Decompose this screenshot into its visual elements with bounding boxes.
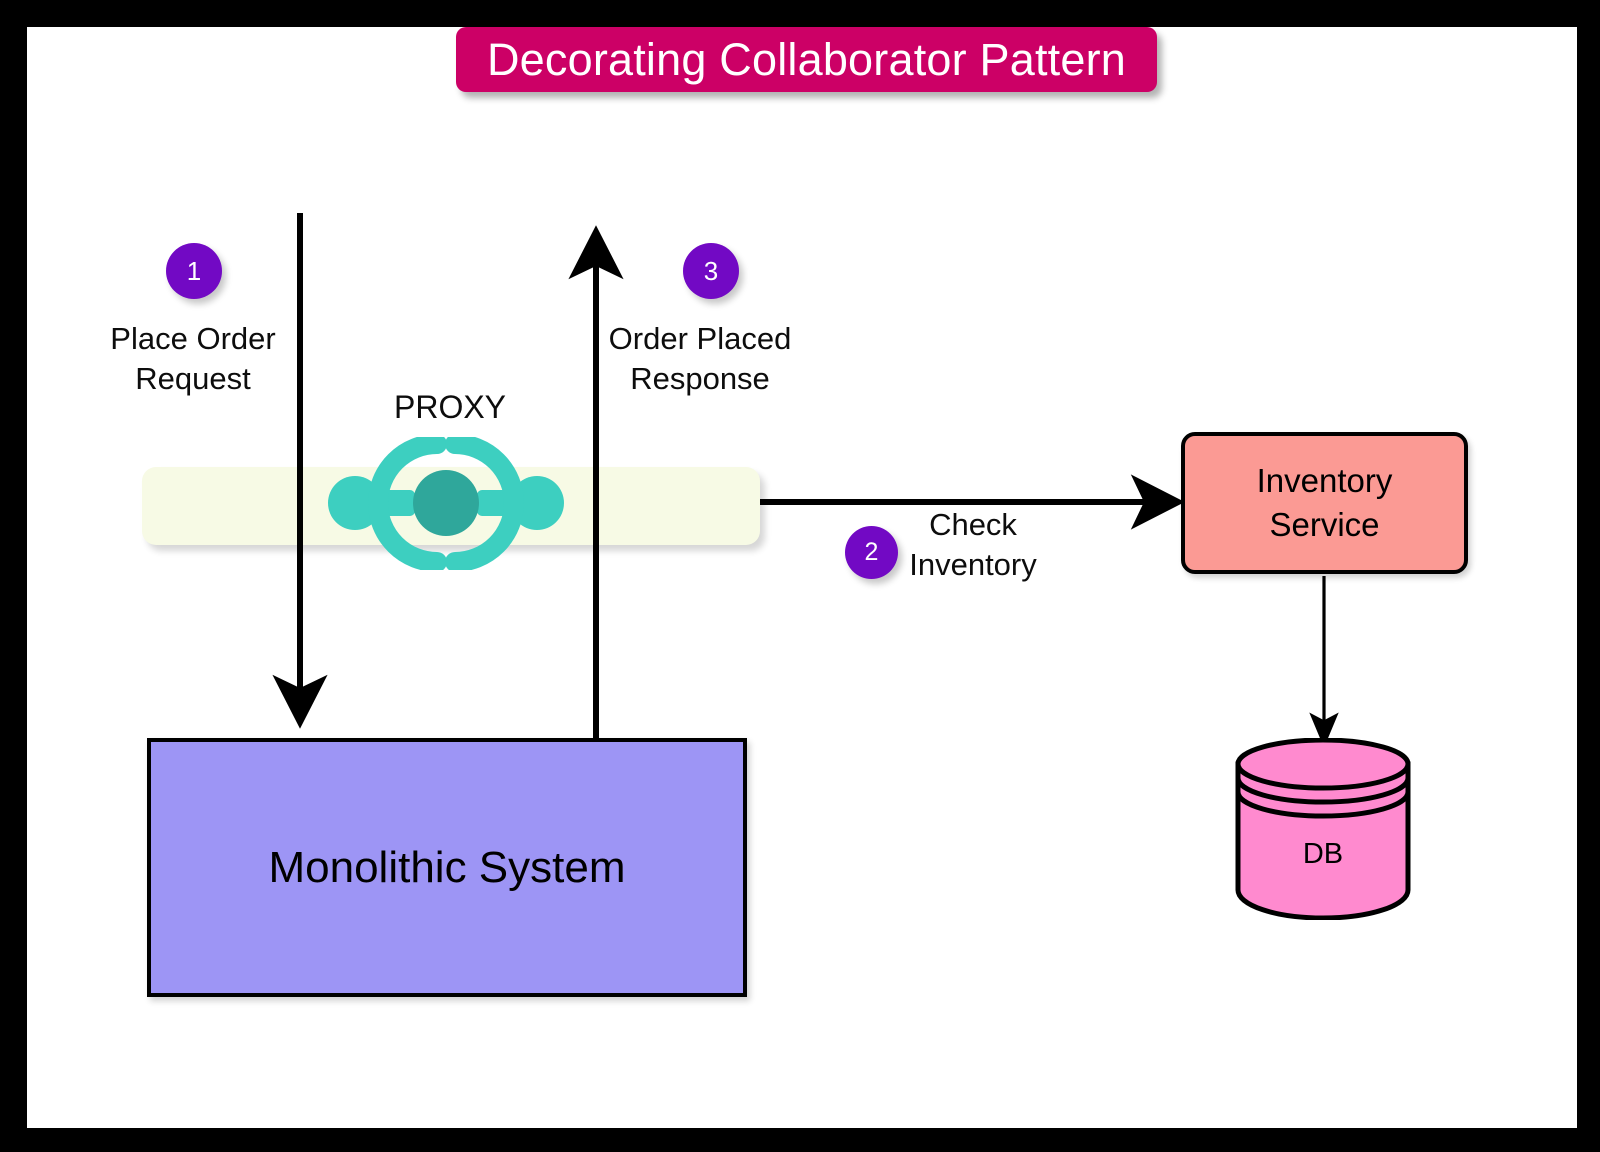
step-badge-2: 2 <box>845 526 898 579</box>
node-database-cylinder[interactable] <box>1234 738 1412 920</box>
label-check-inventory-line1: Check <box>903 505 1043 545</box>
node-monolithic-system[interactable]: Monolithic System <box>147 738 747 997</box>
step-badge-3: 3 <box>683 243 739 299</box>
label-order-placed-response: Order Placed Response <box>601 319 799 398</box>
step-badge-1: 1 <box>166 243 222 299</box>
inventory-service-label-line1: Inventory <box>1257 459 1393 503</box>
label-order-placed-response-line2: Response <box>601 359 799 399</box>
label-check-inventory: Check Inventory <box>903 505 1043 584</box>
diagram-title-banner: Decorating Collaborator Pattern <box>456 27 1157 92</box>
label-order-placed-response-line1: Order Placed <box>601 319 799 359</box>
inventory-service-label-line2: Service <box>1269 503 1379 547</box>
label-place-order-request-line1: Place Order <box>101 319 285 359</box>
monolithic-system-label: Monolithic System <box>268 843 625 893</box>
proxy-label: PROXY <box>330 389 570 426</box>
node-inventory-service[interactable]: Inventory Service <box>1181 432 1468 574</box>
database-label: DB <box>1234 838 1412 871</box>
diagram-stage: Decorating Collaborator Pattern <box>0 0 1600 1152</box>
proxy-network-node-icon <box>325 437 567 570</box>
label-check-inventory-line2: Inventory <box>903 545 1043 585</box>
label-place-order-request: Place Order Request <box>101 319 285 398</box>
label-place-order-request-line2: Request <box>101 359 285 399</box>
page-title: Decorating Collaborator Pattern <box>487 37 1126 82</box>
